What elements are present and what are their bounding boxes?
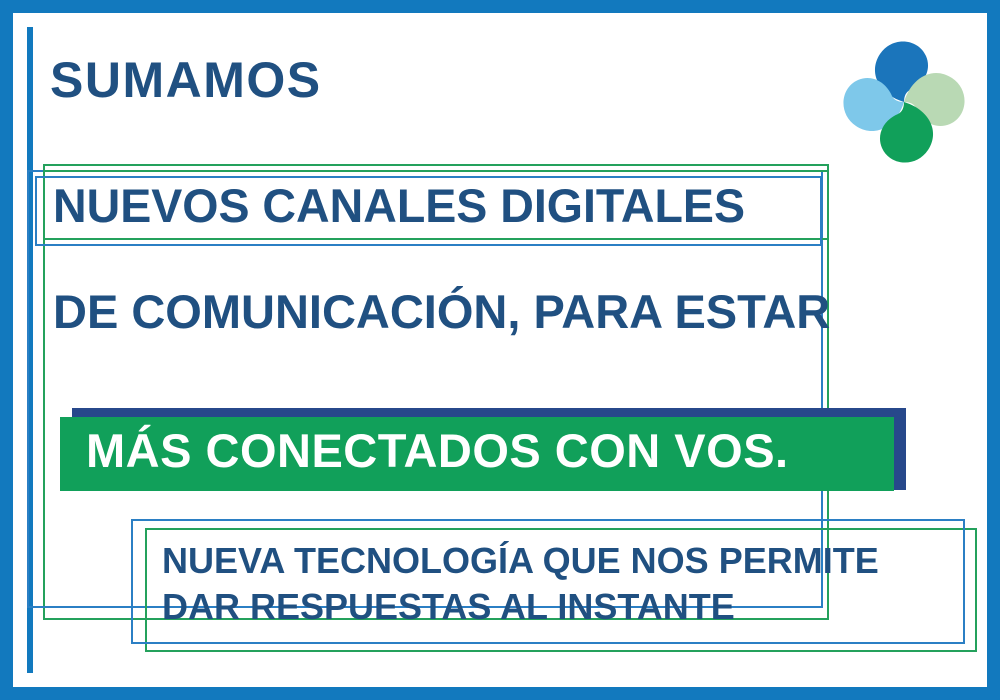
footer-caption-line-2: DAR RESPUESTAS AL INSTANTE bbox=[162, 584, 952, 630]
headline-line-1: NUEVOS CANALES DIGITALES bbox=[53, 180, 805, 233]
frame-border-bottom bbox=[0, 687, 1000, 700]
headline-line-2: DE COMUNICACIÓN, PARA ESTAR bbox=[53, 286, 953, 339]
headline-kicker: SUMAMOS bbox=[50, 55, 322, 105]
highlight-banner: MÁS CONECTADOS CON VOS. bbox=[60, 408, 906, 500]
frame-border-top bbox=[0, 0, 1000, 13]
pinwheel-flower-logo bbox=[838, 32, 970, 172]
footer-caption-line-1: NUEVA TECNOLOGÍA QUE NOS PERMITE bbox=[162, 538, 952, 584]
frame-border-left bbox=[0, 0, 13, 700]
frame-border-right bbox=[987, 0, 1000, 700]
poster-canvas: SUMAMOS NUEVOS CANALES DIGITALES DE COMU… bbox=[0, 0, 1000, 700]
footer-caption: NUEVA TECNOLOGÍA QUE NOS PERMITE DAR RES… bbox=[162, 538, 952, 630]
highlight-banner-text: MÁS CONECTADOS CON VOS. bbox=[86, 427, 789, 474]
